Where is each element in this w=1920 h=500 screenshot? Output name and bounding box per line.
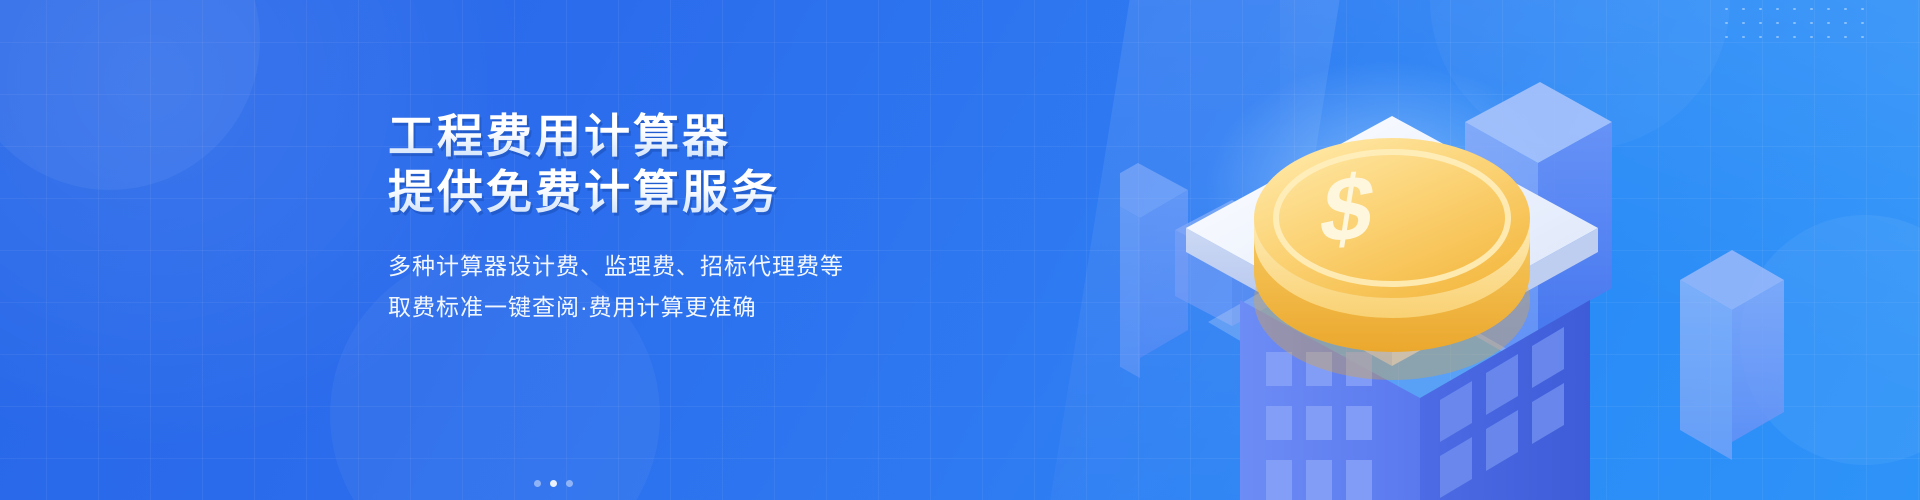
bar-far-left	[1120, 163, 1188, 378]
carousel-dots[interactable]	[534, 480, 573, 487]
carousel-dot-1[interactable]	[534, 480, 541, 487]
isometric-illustration: $ 工程计费	[1120, 0, 1920, 500]
carousel-dot-2[interactable]	[550, 480, 557, 487]
promo-banner: 工程费用计算器 提供免费计算服务 多种计算器设计费、监理费、招标代理费等 取费标…	[0, 0, 1920, 500]
headline-line-2: 提供免费计算服务	[388, 164, 844, 220]
subtitle-line-2: 取费标准一键查阅·费用计算更准确	[388, 287, 844, 328]
gold-coin-stack: $	[1254, 138, 1530, 380]
coin-face	[1254, 138, 1530, 298]
carousel-dot-3[interactable]	[566, 480, 573, 487]
bar-right	[1680, 250, 1784, 460]
subtitle-line-1: 多种计算器设计费、监理费、招标代理费等	[388, 246, 844, 287]
headline-line-1: 工程费用计算器	[388, 108, 844, 164]
illustration-svg: $	[1120, 0, 1920, 500]
banner-copy: 工程费用计算器 提供免费计算服务 多种计算器设计费、监理费、招标代理费等 取费标…	[388, 108, 844, 328]
